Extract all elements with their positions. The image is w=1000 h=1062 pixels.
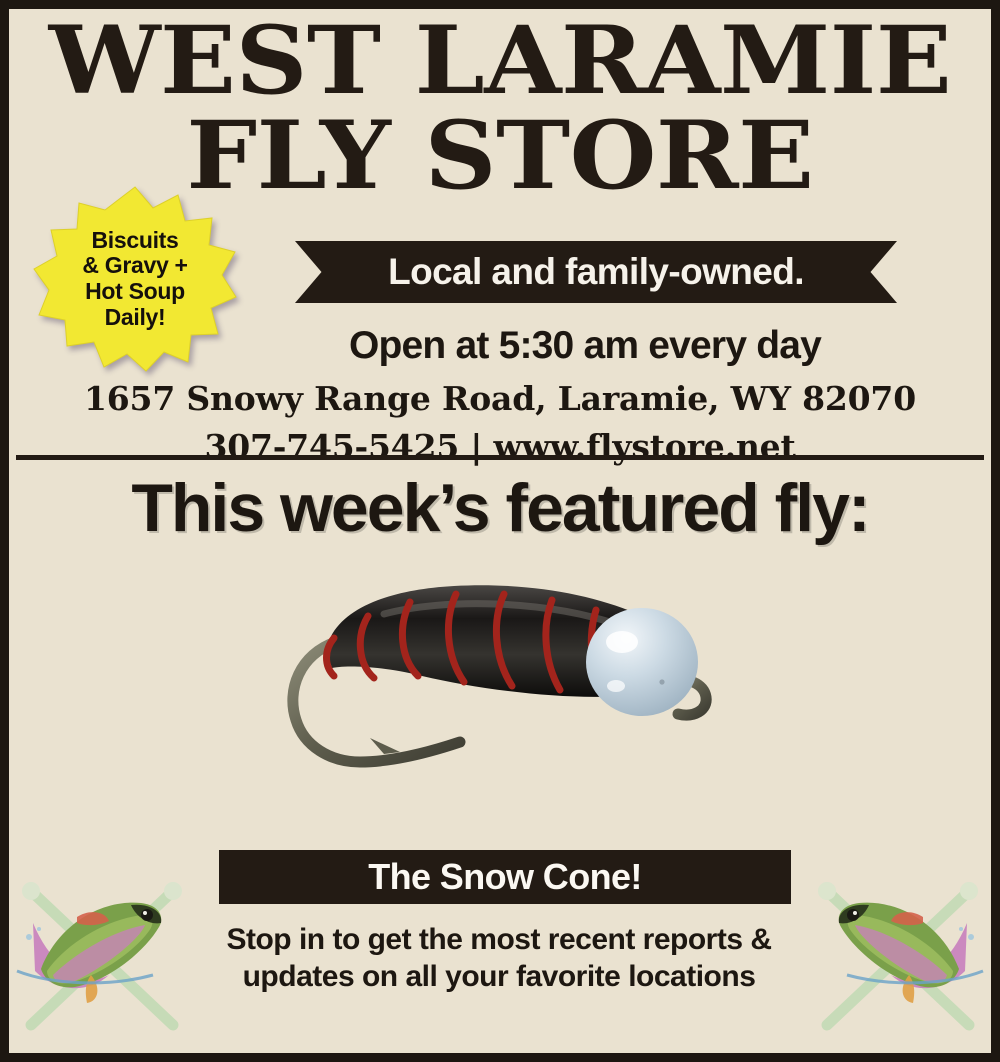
store-hours: Open at 5:30 am every day xyxy=(209,324,961,368)
tagline-line-1: Stop in to get the most recent reports & xyxy=(159,922,839,959)
badge-line-2: & Gravy + xyxy=(82,253,187,279)
fly-name-banner: The Snow Cone! xyxy=(219,850,791,904)
promo-starburst-badge: Biscuits & Gravy + Hot Soup Daily! xyxy=(32,185,238,373)
badge-line-1: Biscuits xyxy=(91,228,178,254)
corner-art-left xyxy=(13,875,193,1047)
trout-and-rods-icon xyxy=(13,875,193,1047)
badge-line-3: Hot Soup xyxy=(85,279,185,305)
closing-tagline: Stop in to get the most recent reports &… xyxy=(159,922,839,995)
page-title: WEST LARAMIE FLY STORE xyxy=(9,17,991,202)
badge-line-4: Daily! xyxy=(105,305,166,331)
bead-head xyxy=(586,608,698,716)
hook-barb xyxy=(370,738,400,754)
advertisement: WEST LARAMIE FLY STORE Biscuits & Gravy … xyxy=(0,0,1000,1062)
store-address: 1657 Snowy Range Road, Laramie, WY 82070 xyxy=(39,379,961,418)
featured-fly-image xyxy=(264,554,764,814)
featured-fly-heading: This week’s featured fly: xyxy=(9,469,991,547)
corner-art-right xyxy=(807,875,987,1047)
badge-text: Biscuits & Gravy + Hot Soup Daily! xyxy=(32,185,238,373)
headline-line-1: WEST LARAMIE xyxy=(9,17,991,106)
ad-inner-panel: WEST LARAMIE FLY STORE Biscuits & Gravy … xyxy=(9,9,991,1053)
fly-name-label: The Snow Cone! xyxy=(368,856,642,898)
fly-illustration xyxy=(264,554,764,814)
store-contact: 307-745-5425 | www.flystore.net xyxy=(39,427,961,466)
tagline-ribbon-banner: Local and family-owned. xyxy=(295,241,897,303)
horizontal-divider xyxy=(16,455,984,460)
trout-and-rods-icon xyxy=(807,875,987,1047)
tagline-line-2: updates on all your favorite locations xyxy=(159,959,839,996)
ribbon-label: Local and family-owned. xyxy=(388,251,804,293)
